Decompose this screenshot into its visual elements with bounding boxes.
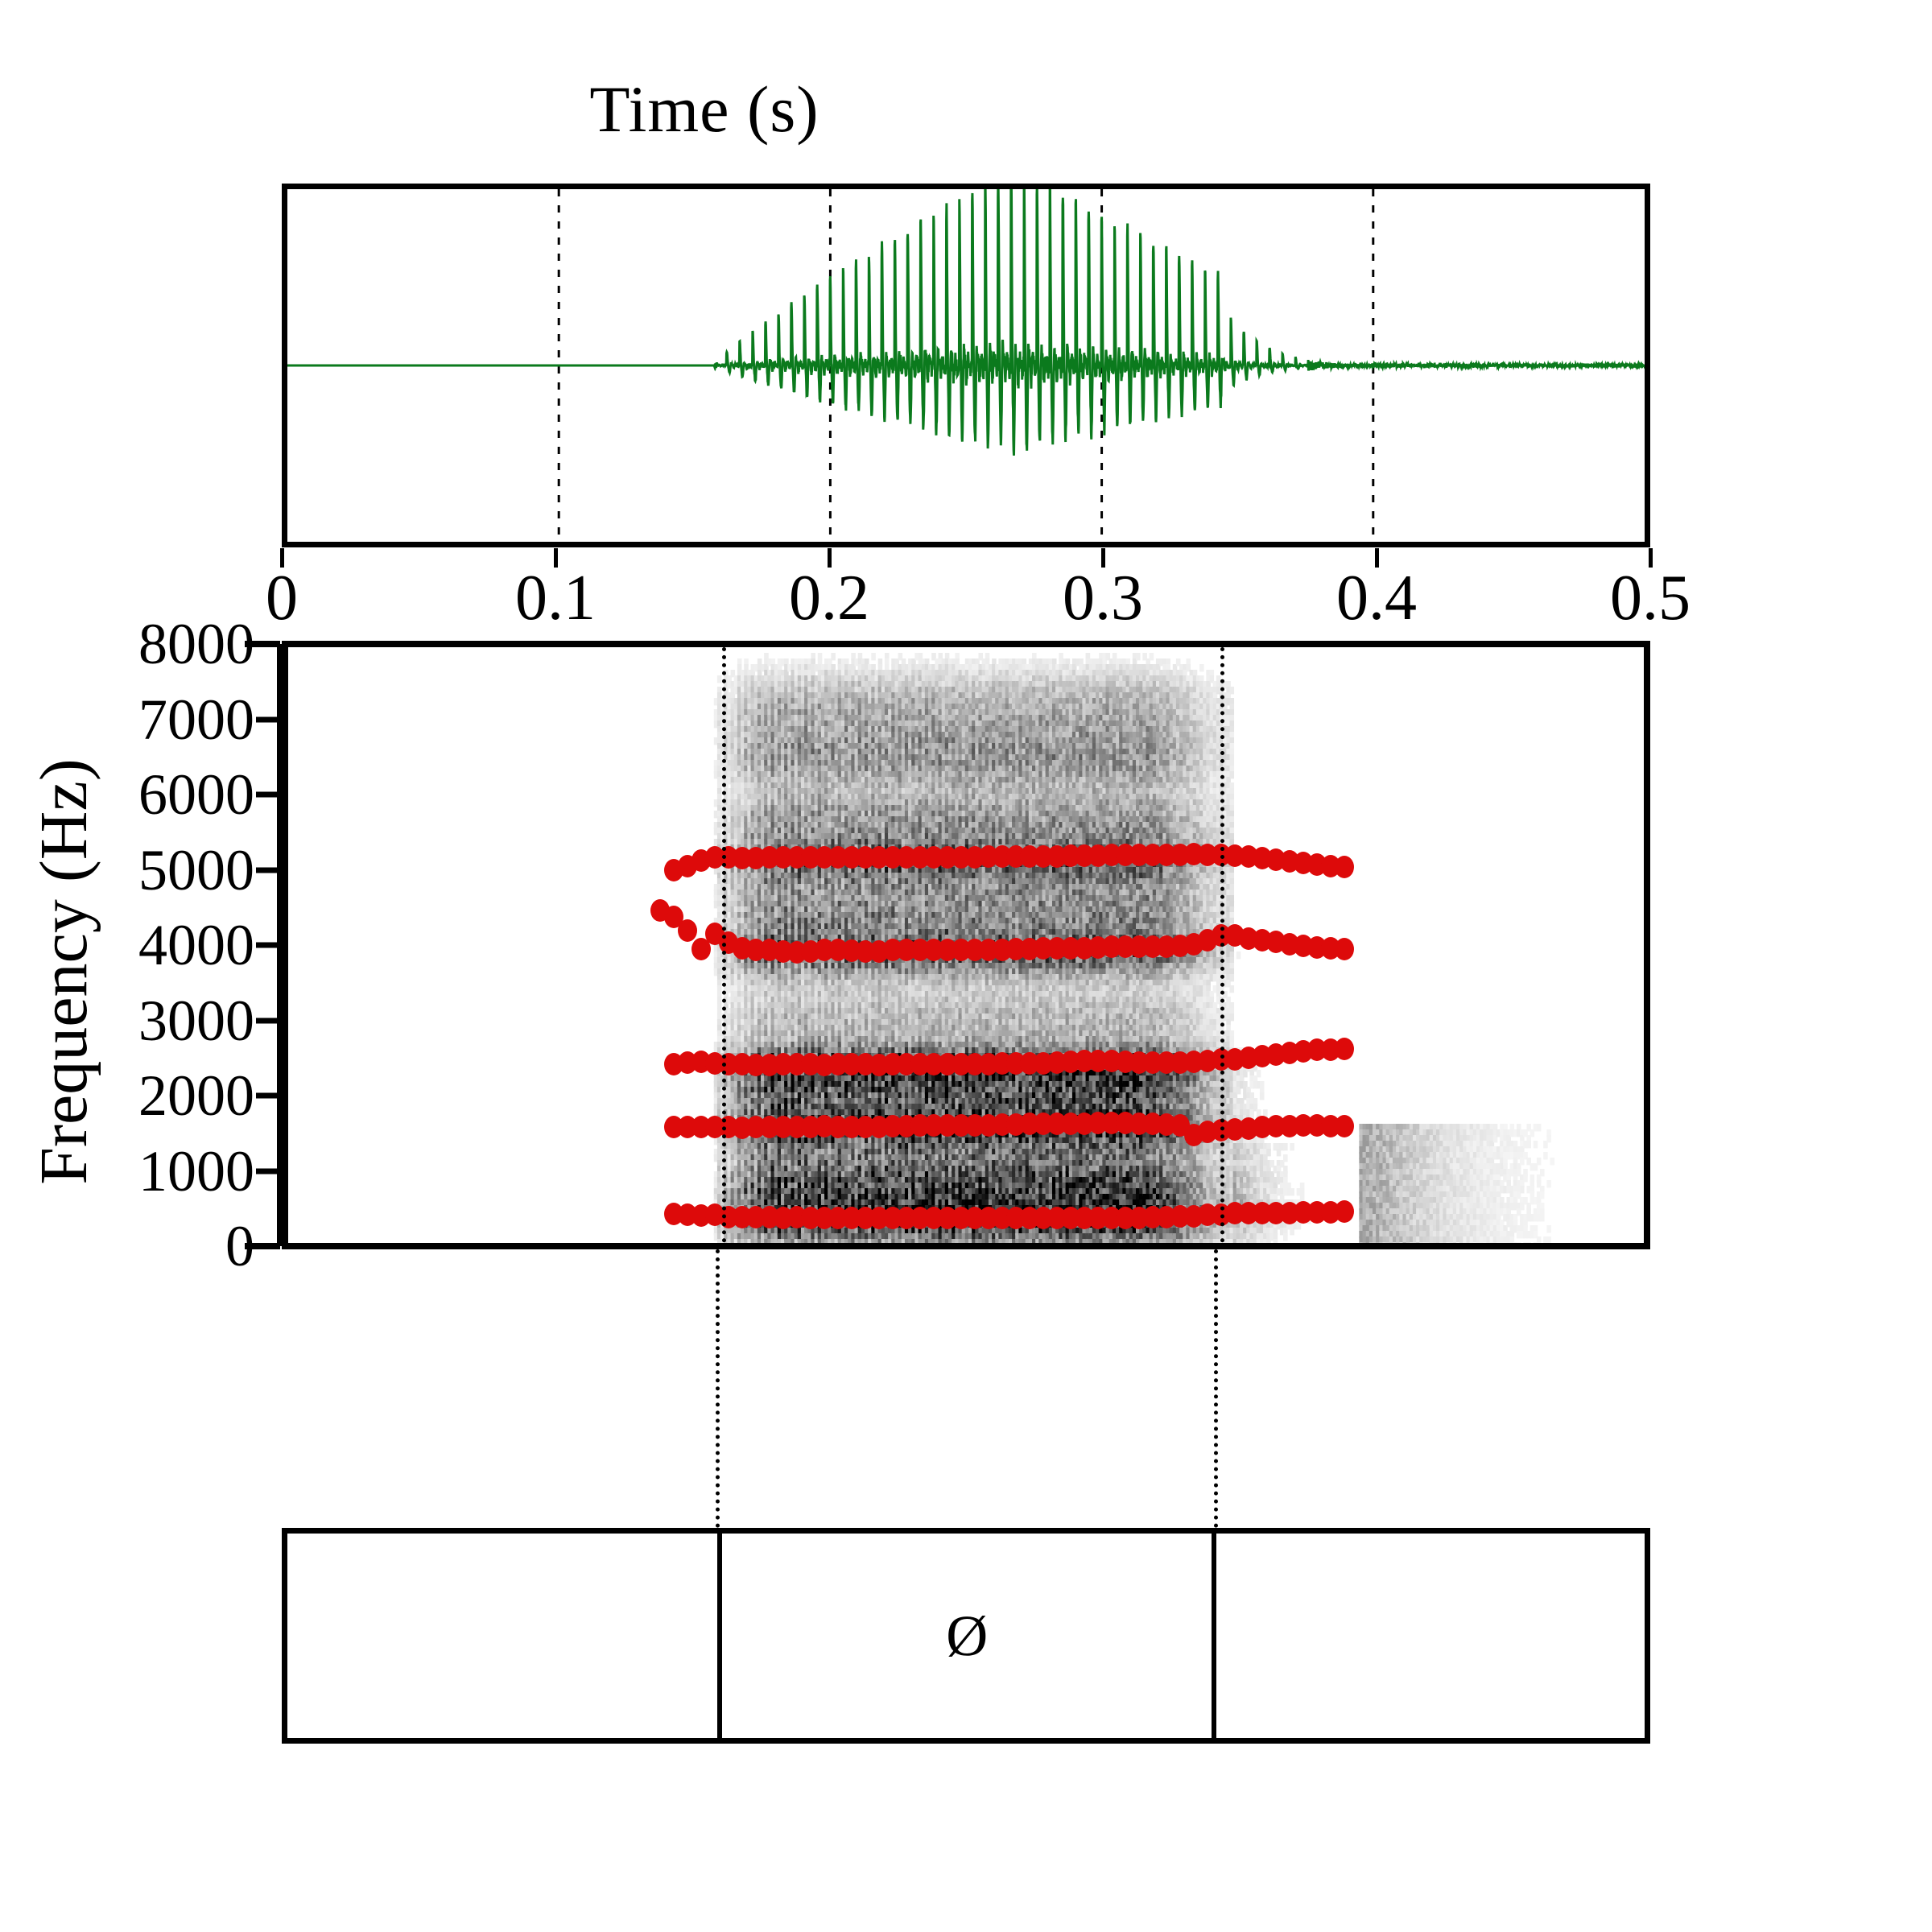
frequency-tick-label: 3000 xyxy=(138,992,254,1050)
formant-point-f1 xyxy=(1335,1200,1354,1223)
cursor-line-left-extension xyxy=(716,1249,720,1528)
frequency-tick-label: 6000 xyxy=(138,766,254,824)
formant-point-f4 xyxy=(678,919,697,942)
page-title: Time (s) xyxy=(0,76,1409,142)
frequency-axis-title: Frequency (Hz) xyxy=(31,666,98,1278)
frequency-tick-label: 4000 xyxy=(138,916,254,974)
frequency-tick-label: 1000 xyxy=(138,1142,254,1200)
time-tick-label: 0.2 xyxy=(789,566,869,630)
frequency-tick-label: 0 xyxy=(225,1217,254,1275)
textgrid-interval[interactable]: Ø xyxy=(717,1534,1212,1738)
time-tick-label: 0.4 xyxy=(1336,566,1417,630)
frequency-tick-label: 2000 xyxy=(138,1067,254,1125)
formant-point-f4 xyxy=(1335,938,1354,960)
frequency-tick-mark xyxy=(256,792,280,798)
formant-point-f3 xyxy=(1335,1038,1354,1060)
frequency-tick-mark xyxy=(256,716,280,722)
textgrid-panel[interactable]: Ø xyxy=(282,1528,1650,1744)
waveform-trace xyxy=(287,189,1645,456)
time-tick-label: 0.5 xyxy=(1610,566,1690,630)
frequency-tick-label: 5000 xyxy=(138,841,254,899)
time-tick-label: 0 xyxy=(266,566,298,630)
cursor-line-right-spectrogram[interactable] xyxy=(1220,647,1224,1243)
time-tick-label: 0.1 xyxy=(515,566,596,630)
frequency-tick-mark xyxy=(256,1168,280,1174)
formant-point-f5 xyxy=(1335,856,1354,878)
formant-point-f2 xyxy=(1335,1115,1354,1137)
textgrid-interval[interactable] xyxy=(287,1534,717,1738)
frequency-tick-label: 8000 xyxy=(138,615,254,673)
time-axis: 00.10.20.30.40.5 xyxy=(282,548,1650,637)
spectrogram-canvas xyxy=(288,647,1644,1243)
textgrid-interval-label: Ø xyxy=(946,1607,988,1665)
spectrogram-panel[interactable] xyxy=(282,641,1650,1249)
frequency-tick-mark xyxy=(256,1093,280,1099)
cursor-line-right-extension xyxy=(1214,1249,1218,1528)
waveform-plot xyxy=(287,189,1645,542)
frequency-tick-mark xyxy=(256,1018,280,1023)
frequency-tick-label: 7000 xyxy=(138,691,254,749)
waveform-panel[interactable] xyxy=(282,184,1650,547)
frequency-tick-mark xyxy=(256,867,280,873)
textgrid-interval[interactable] xyxy=(1212,1534,1645,1738)
cursor-line-left-spectrogram[interactable] xyxy=(722,647,726,1243)
frequency-tick-mark xyxy=(256,943,280,948)
time-tick-label: 0.3 xyxy=(1063,566,1143,630)
